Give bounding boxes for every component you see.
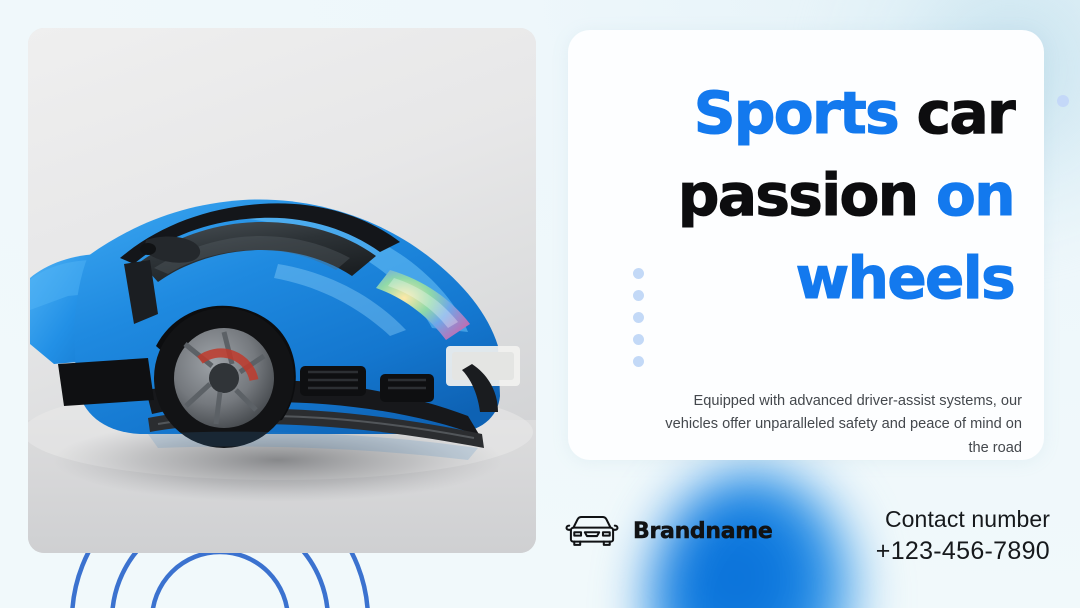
car-front-icon — [565, 514, 619, 548]
brand-name: Brandname — [633, 519, 773, 544]
decorative-dot — [633, 356, 644, 367]
body-copy: Equipped with advanced driver-assist sys… — [652, 390, 1022, 461]
car-photo-illustration — [28, 28, 536, 553]
dot-column-decoration — [633, 268, 644, 367]
side-decorative-dot — [1057, 95, 1069, 107]
contact-block: Contact number +123-456-7890 — [876, 505, 1050, 569]
headline-card: Sports car passion on wheels Equipped wi… — [568, 30, 1044, 460]
headline-word-wheels: wheels — [796, 244, 1014, 312]
brand-block: Brandname — [565, 514, 773, 548]
headline-line-1: Sports car — [602, 72, 1014, 154]
headline-word-car: car — [898, 79, 1014, 147]
headline-word-passion: passion — [678, 161, 936, 229]
poster-canvas: Sports car passion on wheels Equipped wi… — [0, 0, 1080, 608]
headline-word-on: on — [936, 161, 1014, 229]
contact-label: Contact number — [876, 505, 1050, 535]
decorative-dot — [633, 312, 644, 323]
contact-number[interactable]: +123-456-7890 — [876, 535, 1050, 569]
decorative-dot — [633, 268, 644, 279]
headline: Sports car passion on wheels — [602, 72, 1014, 319]
decorative-dot — [633, 334, 644, 345]
headline-word-sports: Sports — [694, 79, 898, 147]
car-photo — [28, 28, 536, 553]
headline-line-2: passion on — [602, 154, 1014, 236]
decorative-dot — [633, 290, 644, 301]
headline-line-3: wheels — [602, 237, 1014, 319]
